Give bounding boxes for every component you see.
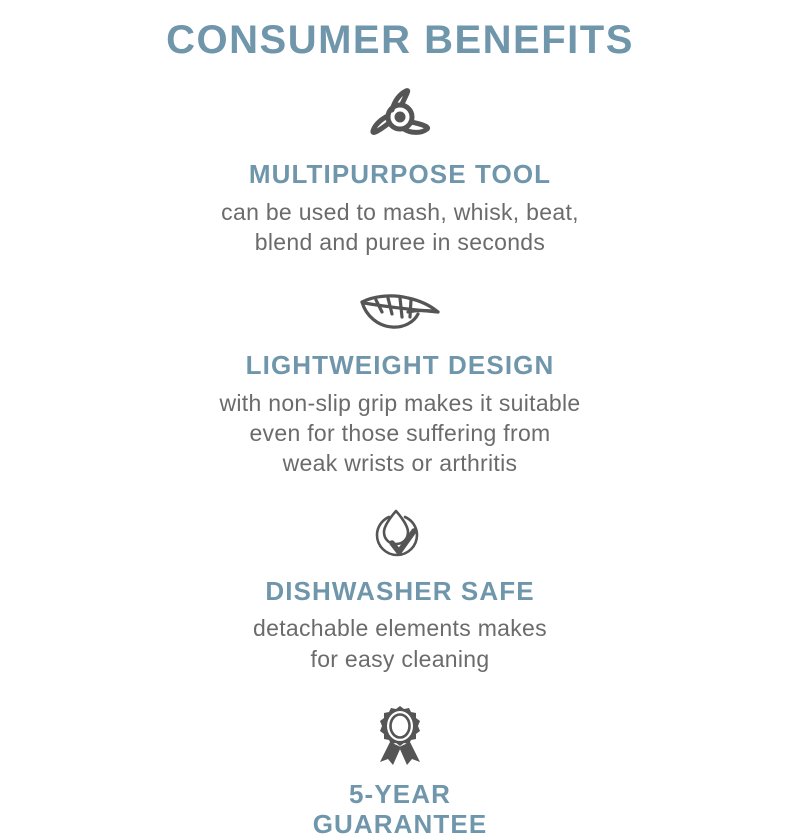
benefit-section-lightweight-design: LIGHTWEIGHT DESIGN with non-slip grip ma…: [0, 290, 800, 479]
guarantee-badge-icon: [352, 704, 448, 766]
benefit-heading: DISHWASHER SAFE: [265, 577, 534, 607]
benefit-heading: LIGHTWEIGHT DESIGN: [246, 351, 555, 381]
benefit-body: detachable elements makes for easy clean…: [253, 613, 547, 674]
benefit-heading: MULTIPURPOSE TOOL: [249, 160, 551, 190]
benefit-heading: 5-YEAR GUARANTEE: [313, 780, 488, 840]
benefit-body: can be used to mash, whisk, beat, blend …: [221, 197, 579, 258]
benefit-section-guarantee: 5-YEAR GUARANTEE: [0, 704, 800, 840]
infographic-page: CONSUMER BENEFITS MULTIPURPOSE TOOL can …: [0, 0, 800, 800]
benefit-section-multipurpose-tool: MULTIPURPOSE TOOL can be used to mash, w…: [0, 88, 800, 258]
benefit-section-dishwasher-safe: DISHWASHER SAFE detachable elements make…: [0, 505, 800, 675]
dishwasher-safe-icon: [352, 505, 448, 563]
blender-blade-icon: [352, 88, 448, 146]
feather-icon: [352, 290, 448, 334]
page-title: CONSUMER BENEFITS: [166, 18, 634, 62]
benefit-body: with non-slip grip makes it suitable eve…: [219, 388, 580, 479]
